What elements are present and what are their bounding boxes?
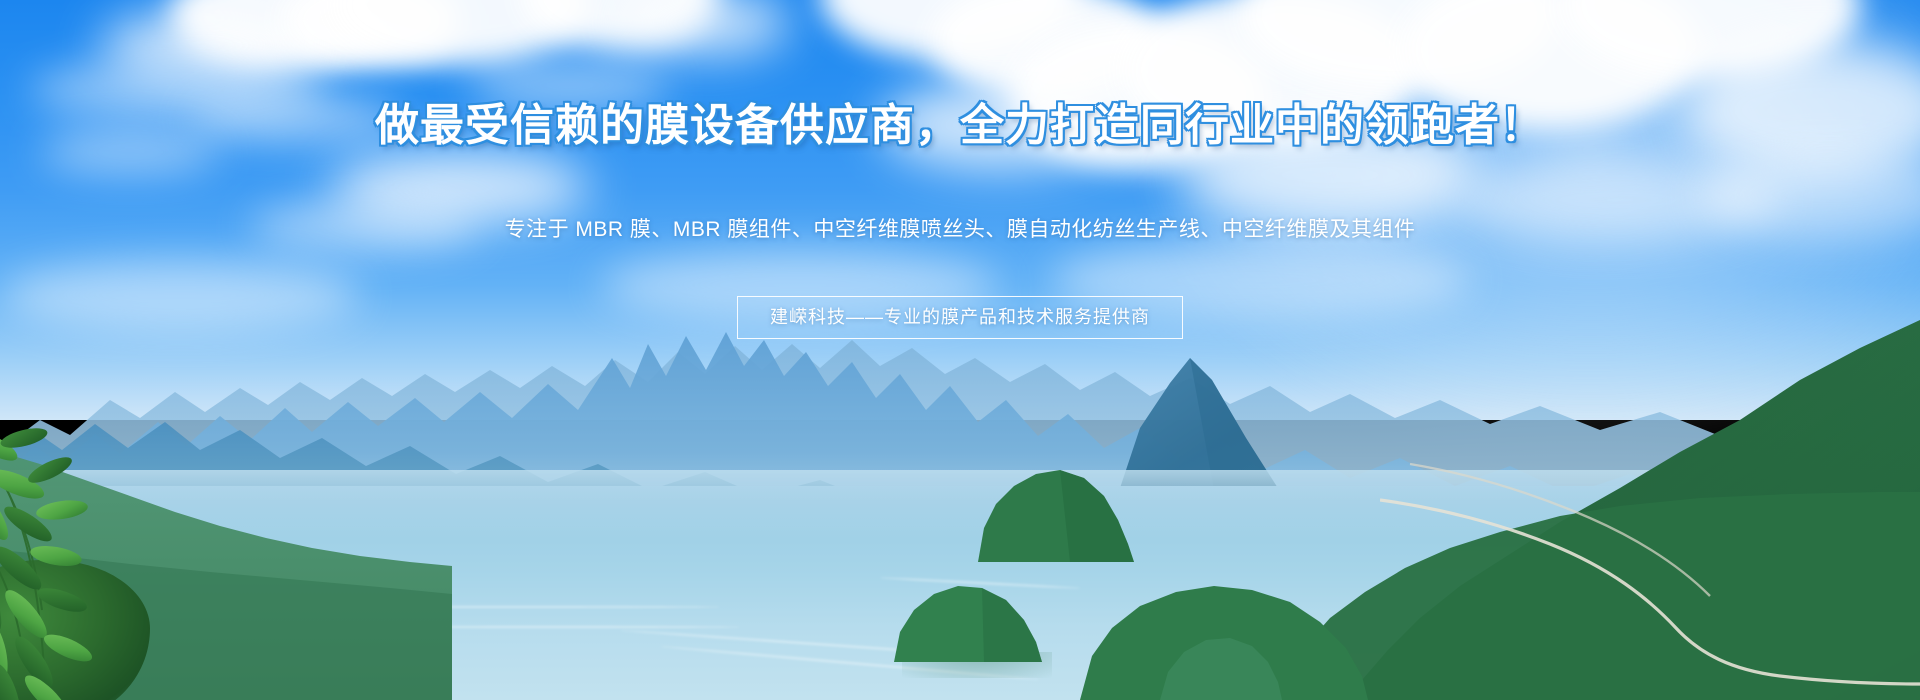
island-lower xyxy=(880,562,1070,662)
hero-tagline-box: 建嵘科技——专业的膜产品和技术服务提供商 xyxy=(737,296,1183,339)
foliage-svg xyxy=(0,400,220,700)
hero-headline: 做最受信赖的膜设备供应商，全力打造同行业中的领跑者！ xyxy=(0,100,1920,152)
foreground-foliage xyxy=(0,400,220,700)
mountain-road xyxy=(1380,448,1920,700)
island-upper xyxy=(960,452,1160,562)
hero-banner: 做最受信赖的膜设备供应商，全力打造同行业中的领跑者！ 专注于 MBR 膜、MBR… xyxy=(0,0,1920,700)
hero-tagline-wrap: 建嵘科技——专业的膜产品和技术服务提供商 xyxy=(0,296,1920,339)
hero-subline: 专注于 MBR 膜、MBR 膜组件、中空纤维膜喷丝头、膜自动化纺丝生产线、中空纤… xyxy=(0,215,1920,245)
